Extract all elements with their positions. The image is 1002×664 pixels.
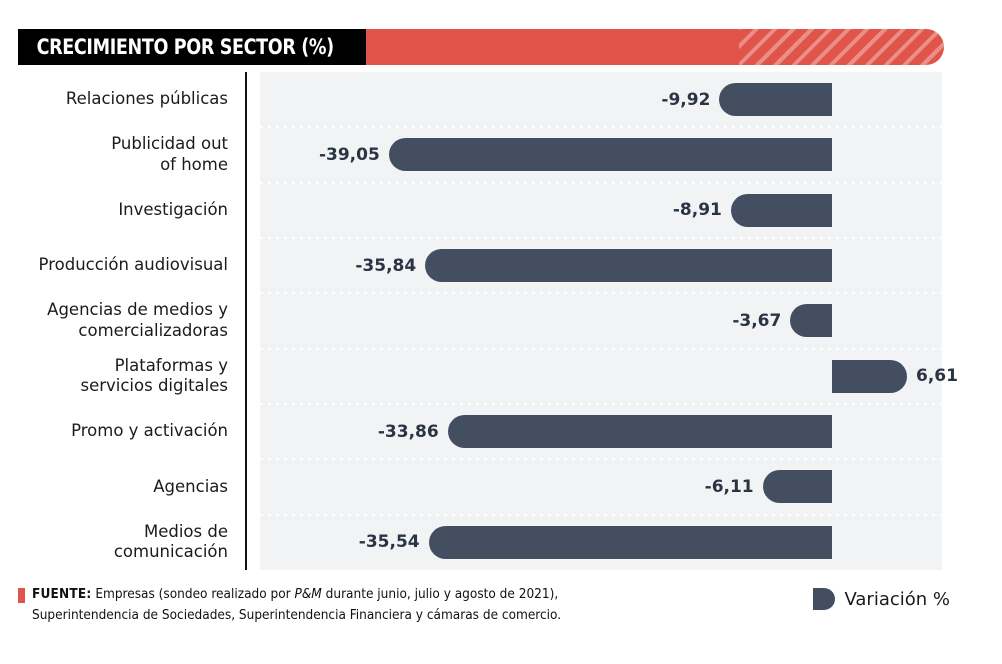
header-title-block: CRECIMIENTO POR SECTOR (%)	[18, 29, 366, 65]
bar[interactable]	[429, 526, 832, 559]
chart-row: Promo y activación-33,86	[0, 404, 1002, 459]
chart-row: Producción audiovisual-35,84	[0, 238, 1002, 293]
bar-value-label: -6,11	[0, 470, 754, 503]
bar[interactable]	[448, 415, 832, 448]
chart-row: Investigación-8,91	[0, 183, 1002, 238]
bar[interactable]	[763, 470, 832, 503]
chart-header-band: CRECIMIENTO POR SECTOR (%)	[18, 29, 944, 65]
bar[interactable]	[389, 138, 832, 171]
source-text-before: Empresas (sondeo realizado por	[95, 586, 290, 602]
bar-value-label: 6,61	[916, 360, 958, 393]
bar-value-label: -39,05	[0, 138, 380, 171]
chart-row: Medios decomunicación-35,54	[0, 515, 1002, 570]
legend-label: Variación %	[844, 589, 950, 610]
chart-legend: Variación %	[813, 588, 950, 610]
category-label-line: servicios digitales	[80, 376, 228, 397]
legend-swatch-icon	[813, 588, 835, 610]
chart-area: Relaciones públicas-9,92Publicidad outof…	[0, 72, 1002, 570]
chart-row: Plataformas yservicios digitales6,61	[0, 349, 1002, 404]
bar[interactable]	[832, 360, 907, 393]
category-label-line: Plataformas y	[80, 356, 228, 377]
header-hatch-pattern	[739, 29, 944, 65]
bar[interactable]	[790, 304, 832, 337]
bar-value-label: -35,84	[0, 249, 416, 282]
category-label: Plataformas yservicios digitales	[0, 349, 228, 404]
bar-value-label: -35,54	[0, 526, 420, 559]
source-publication-name: P&M	[295, 586, 322, 602]
chart-footer: FUENTE: Empresas (sondeo realizado por P…	[0, 578, 1002, 664]
bar-value-label: -3,67	[0, 304, 781, 337]
chart-row: Agencias-6,11	[0, 459, 1002, 514]
bar-value-label: -8,91	[0, 194, 722, 227]
bar[interactable]	[425, 249, 832, 282]
bar[interactable]	[719, 83, 832, 116]
source-note: FUENTE: Empresas (sondeo realizado por P…	[32, 584, 592, 626]
bar-value-label: -9,92	[0, 83, 710, 116]
bar[interactable]	[731, 194, 832, 227]
bar-value-label: -33,86	[0, 415, 439, 448]
source-bullet-icon	[18, 588, 25, 603]
page-title: CRECIMIENTO POR SECTOR (%)	[18, 35, 334, 59]
source-label: FUENTE:	[32, 586, 91, 602]
chart-row: Publicidad outof home-39,05	[0, 127, 1002, 182]
chart-row: Agencias de medios ycomercializadoras-3,…	[0, 293, 1002, 348]
chart-row: Relaciones públicas-9,92	[0, 72, 1002, 127]
